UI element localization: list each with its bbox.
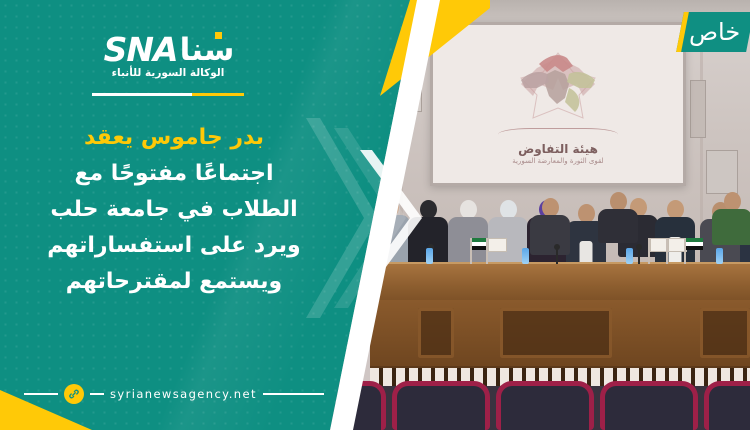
water-bottle	[426, 248, 433, 264]
water-bottle	[626, 248, 633, 264]
table-flag	[486, 238, 488, 264]
logo-divider	[92, 93, 244, 96]
table-flag	[684, 238, 686, 264]
chair	[600, 381, 698, 430]
audience-chairs	[330, 386, 750, 430]
desk-grille	[418, 308, 454, 358]
footer-url-bar[interactable]: syrianewsagency.net	[24, 384, 324, 404]
desk-grille	[500, 308, 612, 358]
headline: بدر جاموس يعقد اجتماعًا مفتوحًا مع الطلا…	[14, 120, 334, 300]
negotiation-commission-logo	[503, 48, 613, 126]
headline-line-4: ويرد على استفساراتهم	[14, 228, 334, 264]
logo-latin-mark: SNA	[104, 34, 178, 66]
wall-fixture	[690, 80, 706, 138]
person	[598, 192, 638, 243]
footer-rule-mid	[90, 393, 104, 395]
chair	[496, 381, 594, 430]
headline-line-2: اجتماعًا مفتوحًا مع	[14, 156, 334, 192]
chair	[704, 381, 750, 430]
water-bottle	[522, 248, 529, 264]
footer-url[interactable]: syrianewsagency.net	[110, 387, 257, 401]
headline-line-3: الطلاب في جامعة حلب	[14, 192, 334, 228]
org-title: هيئة التفاوض	[518, 142, 598, 156]
status-badge: خاص	[676, 12, 750, 52]
projector-screen: هيئة التفاوض لقوى الثورة والمعارضة السور…	[430, 22, 686, 186]
logo-arc	[498, 128, 618, 141]
logo-accent-dot	[215, 32, 222, 39]
table-flag	[470, 238, 472, 264]
chair	[392, 381, 490, 430]
headline-line-5: ويستمع لمقترحاتهم	[14, 264, 334, 300]
microphone	[638, 248, 640, 264]
headline-line-1: بدر جاموس يعقد	[14, 120, 334, 156]
footer-rule-left	[24, 393, 58, 395]
status-badge-label: خاص	[689, 18, 740, 46]
desk-grille	[700, 308, 750, 358]
sna-logo[interactable]: SNA سنا الوكالة السورية للأنباء	[92, 30, 244, 96]
person	[530, 198, 570, 255]
logo-arabic-mark: سنا	[180, 35, 235, 66]
link-icon	[64, 384, 84, 404]
microphone	[556, 248, 558, 264]
water-bottle	[716, 248, 723, 264]
news-card: هيئة التفاوض لقوى الثورة والمعارضة السور…	[0, 0, 750, 430]
conference-desk	[370, 262, 750, 304]
logo-divider-yellow	[192, 93, 244, 96]
table-flag	[648, 238, 650, 264]
org-subtitle: لقوى الثورة والمعارضة السورية	[512, 157, 603, 165]
person	[712, 192, 750, 245]
footer-rule-right	[263, 393, 324, 395]
logo-divider-white	[92, 93, 192, 96]
table-flag	[666, 238, 668, 264]
